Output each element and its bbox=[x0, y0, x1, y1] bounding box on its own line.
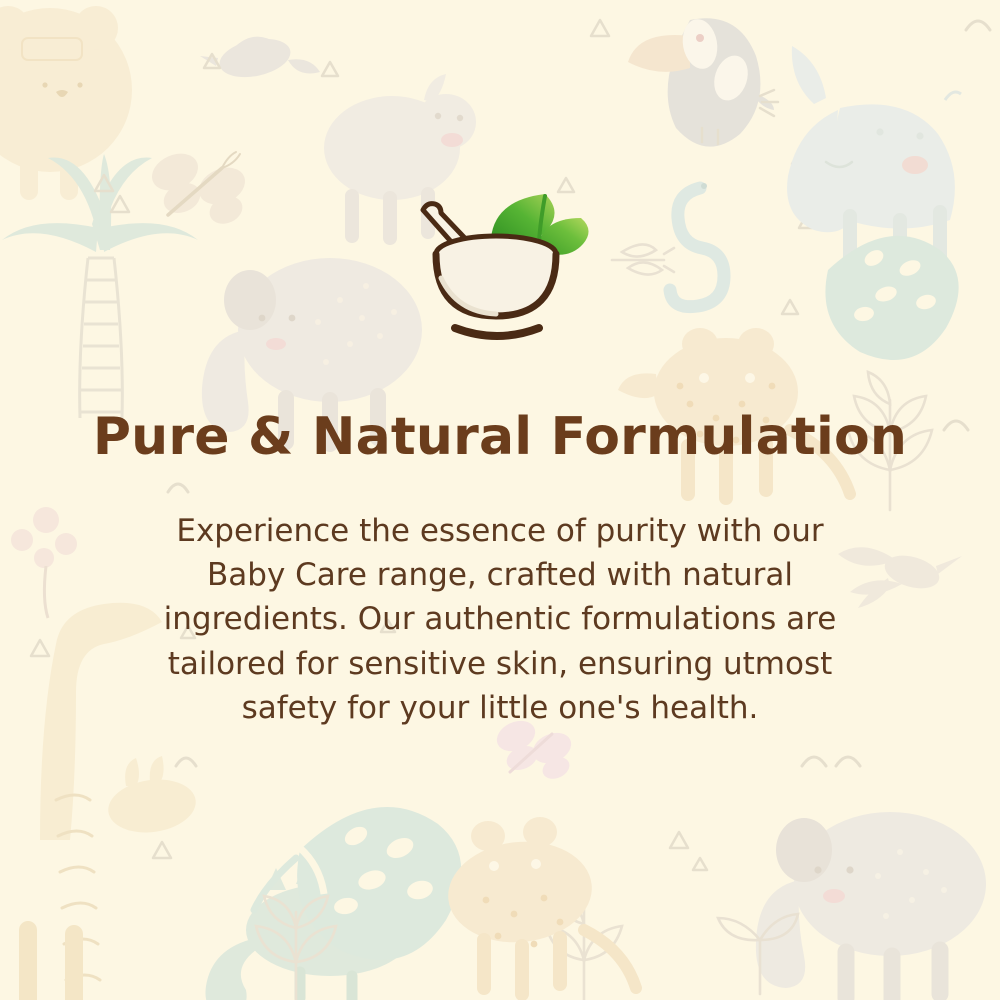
page-title: Pure & Natural Formulation bbox=[93, 410, 907, 465]
card-content: Pure & Natural Formulation Experience th… bbox=[0, 0, 1000, 1000]
promo-card: Pure & Natural Formulation Experience th… bbox=[0, 0, 1000, 1000]
body-description: Experience the essence of purity with ou… bbox=[135, 509, 865, 731]
mortar-bowl-shape bbox=[436, 236, 556, 336]
mortar-and-pestle-with-leaves-icon bbox=[395, 182, 605, 362]
